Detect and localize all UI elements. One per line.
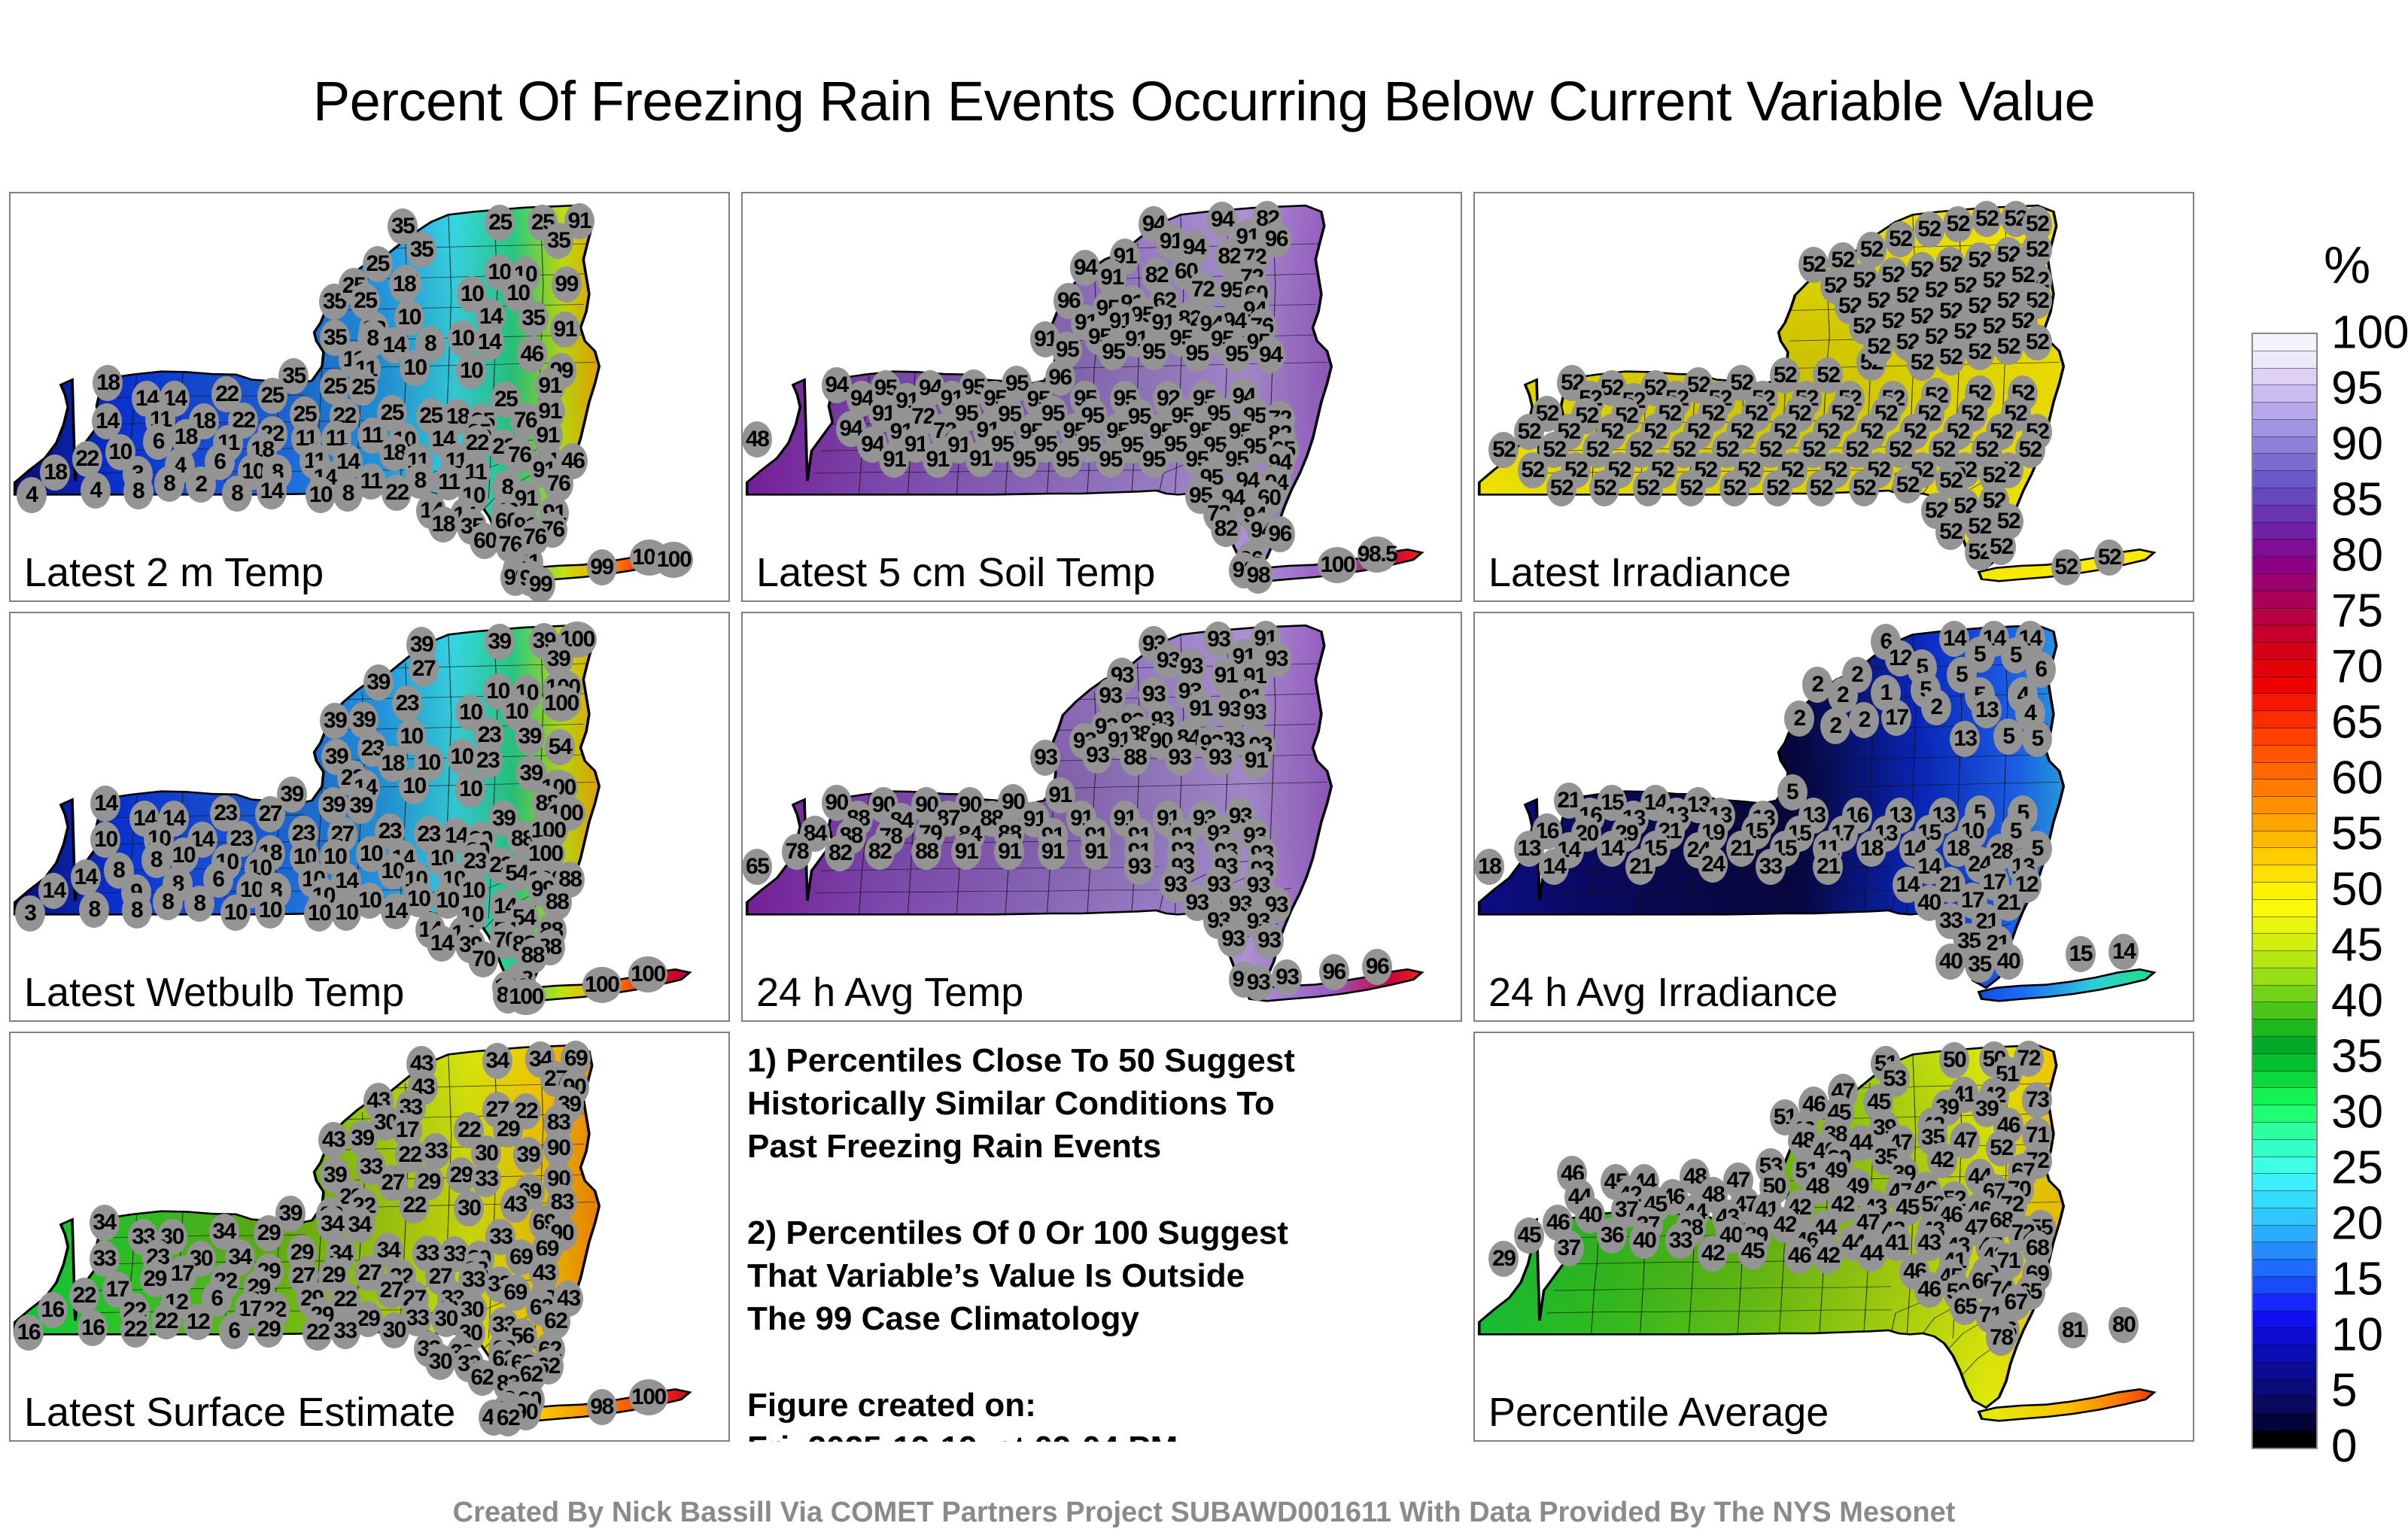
station-marker: 21 — [1813, 849, 1843, 885]
station-marker: 8 — [153, 884, 183, 920]
colorbar-tick-label: 0 — [2331, 1420, 2357, 1473]
panel-label: Latest 2 m Temp — [24, 549, 324, 596]
notes-text: 1) Percentiles Close To 50 Suggest Histo… — [747, 1039, 1456, 1442]
station-marker: 39 — [320, 703, 350, 739]
colorbar-band — [2253, 1123, 2316, 1140]
colorbar-band — [2253, 1260, 2316, 1277]
colorbar-band — [2253, 814, 2316, 831]
colorbar-tick-label: 85 — [2331, 473, 2383, 527]
station-marker: 35 — [518, 300, 549, 336]
colorbar-band — [2253, 848, 2316, 865]
colorbar-tick-label: 70 — [2331, 640, 2383, 694]
colorbar-tick-label: 75 — [2331, 585, 2383, 638]
station-marker: 10 — [220, 895, 251, 931]
station-marker: 95 — [1139, 442, 1169, 478]
station-marker: 22 — [382, 475, 412, 511]
colorbar-band — [2253, 1054, 2316, 1071]
station-marker: 100 — [654, 542, 693, 578]
station-marker: 30 — [454, 1190, 484, 1226]
station-marker: 100 — [628, 956, 667, 992]
station-marker: 5 — [2022, 721, 2052, 757]
colorbar-band — [2253, 643, 2316, 660]
station-marker: 17 — [1881, 700, 1911, 736]
station-marker: 2 — [1784, 701, 1814, 737]
station-marker: 35 — [1965, 947, 1995, 983]
station-marker: 46 — [1914, 1272, 1944, 1308]
station-marker: 25 — [485, 205, 515, 241]
station-marker: 52 — [1589, 470, 1619, 506]
station-marker: 22 — [399, 1187, 429, 1223]
colorbar-band — [2253, 917, 2316, 935]
station-marker: 10 — [455, 771, 485, 807]
station-marker: 100 — [629, 1379, 668, 1415]
panel-label: Percentile Average — [1488, 1389, 1829, 1436]
figure-root: Percent Of Freezing Rain Events Occurrin… — [0, 0, 2408, 1535]
colorbar-band — [2253, 1088, 2316, 1105]
panel-label: 24 h Avg Irradiance — [1488, 969, 1838, 1016]
colorbar-tick-label: 10 — [2331, 1309, 2383, 1362]
colorbar-band — [2253, 1037, 2316, 1054]
station-marker: 30 — [425, 1344, 455, 1380]
station-marker: 98.5 — [1358, 536, 1397, 573]
station-marker: 95 — [1096, 442, 1126, 478]
station-marker: 35 — [543, 223, 573, 259]
station-marker: 52 — [1914, 211, 1944, 248]
station-marker: 91 — [550, 312, 580, 348]
station-marker: 91 — [1081, 834, 1111, 870]
station-marker: 93 — [1082, 737, 1112, 774]
colorbar-tick-label: 15 — [2331, 1253, 2383, 1306]
station-marker: 14 — [257, 473, 287, 509]
station-marker: 46 — [1784, 1238, 1814, 1274]
station-marker: 82 — [825, 835, 855, 871]
station-marker: 78 — [1986, 1320, 2016, 1356]
footer-credit: Created By Nick Bassill Via COMET Partne… — [0, 1497, 2408, 1529]
station-marker: 10 — [255, 892, 285, 929]
station-marker: 14 — [71, 859, 101, 895]
station-marker: 34 — [482, 1043, 512, 1079]
station-marker: 13 — [1950, 721, 1980, 757]
colorbar-band — [2253, 728, 2316, 746]
colorbar-band — [2253, 1157, 2316, 1175]
colorbar-tick-label: 95 — [2331, 362, 2383, 415]
colorbar-band — [2253, 454, 2316, 471]
station-marker: 52 — [1806, 470, 1836, 506]
colorbar-band — [2253, 609, 2316, 626]
station-marker: 14 — [2109, 934, 2139, 970]
station-marker: 10 — [304, 895, 334, 932]
station-marker: 34 — [90, 1205, 120, 1241]
station-marker: 27 — [409, 651, 439, 687]
colorbar-band — [2253, 694, 2316, 711]
station-marker: 21 — [1726, 831, 1756, 867]
station-marker: 25 — [257, 378, 287, 414]
station-marker: 45 — [1514, 1217, 1544, 1254]
station-marker: 100 — [506, 979, 546, 1015]
colorbar-band — [2253, 1345, 2316, 1363]
station-marker: 40 — [1629, 1223, 1659, 1259]
station-marker: 2 — [1820, 708, 1850, 744]
station-marker: 43 — [318, 1122, 348, 1158]
colorbar-band — [2253, 900, 2316, 917]
station-marker: 54 — [545, 729, 575, 765]
station-marker: 70 — [468, 941, 498, 977]
colorbar-band — [2253, 763, 2316, 780]
station-marker: 88 — [1120, 740, 1150, 776]
station-marker: 33 — [330, 1313, 360, 1349]
station-marker: 8 — [222, 476, 252, 512]
station-marker: 73 — [2022, 1082, 2052, 1118]
station-marker: 52 — [1885, 221, 1915, 257]
station-marker: 5 — [1993, 719, 2023, 755]
colorbar-band — [2253, 506, 2316, 523]
station-marker: 10 — [306, 477, 336, 513]
colorbar-band — [2253, 711, 2316, 728]
station-marker: 82 — [1211, 511, 1241, 547]
station-marker: 33 — [1756, 849, 1786, 885]
station-marker: 27 — [255, 796, 285, 832]
station-marker: 14 — [381, 893, 411, 929]
station-marker: 21 — [1625, 849, 1655, 885]
station-marker: 22 — [120, 1312, 150, 1348]
station-marker: 91 — [879, 442, 909, 478]
colorbar-band — [2253, 865, 2316, 883]
station-marker: 39 — [513, 1137, 543, 1173]
colorbar-tick-label: 50 — [2331, 863, 2383, 916]
station-marker: 95 — [1182, 336, 1212, 372]
station-marker: 95 — [1009, 442, 1039, 478]
station-marker: 37 — [1554, 1230, 1584, 1266]
panel-label: 24 h Avg Temp — [756, 969, 1023, 1016]
station-marker: 14 — [1597, 831, 1627, 867]
station-marker: 18 — [40, 454, 70, 491]
station-marker: 39 — [485, 624, 515, 660]
colorbar-band — [2253, 1397, 2316, 1414]
station-marker: 93 — [1254, 923, 1284, 959]
panel-notes[interactable]: 1) Percentiles Close To 50 Suggest Histo… — [741, 1032, 1462, 1442]
station-marker: 23 — [392, 685, 422, 722]
station-marker: 100 — [1318, 547, 1357, 583]
colorbar-band — [2253, 1174, 2316, 1191]
panel-percentile-average[interactable]: 5150507253514741427346453939514539424671… — [1473, 1032, 2194, 1442]
colorbar-band — [2253, 1380, 2316, 1397]
station-marker: 98 — [587, 1389, 617, 1425]
colorbar-band — [2253, 385, 2316, 403]
colorbar-band — [2253, 883, 2316, 900]
colorbar-band — [2253, 1294, 2316, 1312]
station-marker: 48 — [742, 421, 772, 457]
station-marker: 39 — [346, 788, 376, 824]
station-marker: 30 — [379, 1312, 409, 1348]
station-marker: 52 — [1863, 329, 1893, 365]
station-marker: 99 — [587, 549, 617, 585]
colorbar-band — [2253, 1431, 2316, 1448]
station-marker: 43 — [500, 1187, 531, 1223]
station-marker: 52 — [1546, 470, 1576, 506]
station-marker: 10 — [331, 895, 361, 931]
station-marker: 52 — [1849, 470, 1879, 506]
colorbar-band — [2253, 934, 2316, 951]
colorbar-band — [2253, 831, 2316, 849]
colorbar-band — [2253, 1002, 2316, 1020]
station-marker: 52 — [1488, 432, 1519, 468]
colorbar-band — [2253, 746, 2316, 763]
station-marker: 2 — [1921, 689, 1951, 725]
colorbar-band — [2253, 660, 2316, 677]
colorbar-band — [2253, 1140, 2316, 1157]
station-marker: 93 — [1124, 849, 1154, 885]
colorbar-band — [2253, 1242, 2316, 1260]
station-marker: 16 — [78, 1310, 108, 1346]
station-marker: 34 — [345, 1207, 375, 1243]
station-marker: 52 — [1965, 334, 1995, 370]
station-marker: 96 — [1362, 949, 1392, 985]
station-marker: 100 — [582, 967, 622, 1003]
colorbar-band — [2253, 420, 2316, 437]
station-marker: 91 — [1241, 743, 1271, 779]
station-marker: 6 — [219, 1313, 249, 1349]
station-marker: 91 — [965, 441, 996, 477]
colorbar-band — [2253, 780, 2316, 797]
panel-latest-wetbulb-temp[interactable]: 3939391002739391010100393923101010010233… — [9, 612, 730, 1022]
station-marker: 93 — [1205, 740, 1235, 776]
colorbar-band — [2253, 968, 2316, 986]
station-marker: 39 — [363, 664, 394, 701]
station-marker: 15 — [2066, 936, 2096, 972]
station-marker: 80 — [2109, 1307, 2139, 1343]
station-marker: 52 — [1907, 345, 1937, 381]
panel-label: Latest 5 cm Soil Temp — [756, 549, 1155, 596]
colorbar-band — [2253, 1208, 2316, 1226]
station-marker: 29 — [254, 1215, 284, 1251]
station-marker: 10 — [456, 353, 486, 389]
station-marker: 22 — [69, 1278, 99, 1314]
station-marker: 8 — [154, 466, 184, 502]
panel-latest-2m-temp[interactable]: 3525259135352525101035251810109925101435… — [9, 192, 730, 602]
station-marker: 18 — [1474, 849, 1504, 885]
panel-24h-avg-temp[interactable]: 9393919391939393919193939391939391939393… — [741, 612, 1462, 1022]
station-marker: 52 — [1972, 201, 2002, 237]
colorbar-band — [2253, 677, 2316, 695]
station-marker: 14 — [1539, 849, 1569, 885]
colorbar-band — [2253, 540, 2316, 557]
station-marker: 62 — [493, 1400, 523, 1436]
station-marker: 78 — [782, 834, 812, 870]
colorbar-band — [2253, 1328, 2316, 1345]
panel-latest-irradiance[interactable]: 5252525252525252525252525252525252525252… — [1473, 192, 2194, 602]
station-marker: 95 — [1139, 334, 1169, 370]
colorbar-band — [2253, 1312, 2316, 1329]
colorbar-tick-label: 100 — [2331, 306, 2408, 360]
station-marker: 91 — [923, 442, 953, 478]
station-marker: 8 — [122, 892, 152, 929]
colorbar-tick-label: 60 — [2331, 752, 2383, 805]
colorbar-band — [2253, 351, 2316, 369]
station-marker: 94 — [1255, 337, 1285, 373]
colorbar-band — [2253, 557, 2316, 574]
station-marker: 93 — [1243, 965, 1273, 1001]
colorbar-tick-label: 30 — [2331, 1086, 2383, 1139]
station-marker: 10 — [399, 768, 429, 804]
colorbar-band — [2253, 334, 2316, 351]
station-marker: 14 — [427, 926, 457, 962]
station-marker: 50 — [1939, 1042, 1969, 1078]
page-title: Percent Of Freezing Rain Events Occurrin… — [0, 69, 2408, 133]
colorbar-band — [2253, 591, 2316, 609]
colorbar-band — [2253, 574, 2316, 591]
station-marker: 44 — [1856, 1236, 1887, 1272]
station-marker: 16 — [14, 1315, 44, 1351]
station-marker: 95 — [1052, 442, 1082, 478]
station-marker: 22 — [72, 441, 102, 477]
station-marker: 93 — [1218, 921, 1248, 957]
colorbar-band — [2253, 1105, 2316, 1123]
station-marker: 8 — [333, 476, 363, 512]
station-marker: 52 — [1893, 467, 1923, 503]
station-marker: 24 — [1698, 847, 1728, 883]
station-marker: 52 — [1676, 470, 1706, 506]
panel-latest-surface-estimate[interactable]: 4334346943279043332722394339301722298322… — [9, 1032, 730, 1442]
station-marker: 4 — [17, 477, 47, 513]
station-marker: 29 — [1488, 1241, 1519, 1277]
colorbar-unit-label: % — [2324, 235, 2370, 295]
colorbar-track — [2251, 333, 2318, 1449]
station-marker: 22 — [151, 1303, 181, 1339]
station-marker: 95 — [1221, 336, 1251, 372]
colorbar-tick-label: 90 — [2331, 418, 2383, 471]
station-marker: 36 — [1597, 1217, 1627, 1254]
station-marker: 39 — [515, 719, 545, 755]
station-marker: 91 — [1038, 834, 1068, 870]
station-marker: 98 — [1243, 558, 1273, 594]
colorbar-band — [2253, 488, 2316, 506]
station-marker: 10 — [448, 321, 478, 357]
colorbar-band — [2253, 437, 2316, 454]
station-marker: 95 — [1098, 334, 1128, 370]
station-marker: 3 — [15, 895, 45, 932]
station-marker: 18 — [389, 266, 419, 302]
colorbar-tick-label: 20 — [2331, 1197, 2383, 1251]
station-marker: 16 — [38, 1292, 68, 1328]
station-marker: 22 — [303, 1315, 333, 1351]
panel-latest-5cm-soil-temp[interactable]: 9494829191969194827294826072917295609691… — [741, 192, 1462, 602]
station-marker: 52 — [2022, 324, 2052, 360]
colorbar-band — [2253, 625, 2316, 643]
station-marker: 2 — [1849, 702, 1879, 738]
colorbar-tick-label: 40 — [2331, 974, 2383, 1028]
station-marker: 99 — [525, 567, 555, 602]
station-marker: 52 — [1518, 452, 1548, 488]
station-marker: 52 — [1935, 339, 1966, 375]
station-marker: 40 — [1993, 944, 2023, 980]
colorbar-band — [2253, 951, 2316, 968]
colorbar-band — [2253, 986, 2316, 1003]
colorbar-tick-label: 25 — [2331, 1141, 2383, 1195]
station-marker: 14 — [90, 786, 120, 822]
station-marker: 96 — [1265, 516, 1295, 552]
colorbar-tick-label: 65 — [2331, 696, 2383, 749]
station-marker: 93 — [1165, 740, 1195, 776]
station-marker: 42 — [1698, 1236, 1728, 1272]
station-marker: 52 — [1762, 470, 1792, 506]
station-marker: 33 — [1665, 1223, 1695, 1259]
station-marker: 52 — [1935, 514, 1966, 550]
colorbar-band — [2253, 471, 2316, 488]
station-marker: 8 — [123, 473, 154, 509]
panel-label: Latest Irradiance — [1488, 549, 1791, 596]
colorbar-tick-label: 55 — [2331, 807, 2383, 861]
colorbar-tick-label: 5 — [2331, 1364, 2357, 1418]
station-marker: 81 — [2058, 1312, 2088, 1348]
station-marker: 42 — [1813, 1238, 1843, 1274]
station-marker: 10 — [400, 350, 430, 386]
station-marker: 96 — [1319, 954, 1349, 990]
station-marker: 62 — [467, 1360, 497, 1396]
colorbar-tick-label: 35 — [2331, 1030, 2383, 1084]
station-marker: 93 — [1239, 695, 1269, 731]
station-marker: 46 — [517, 336, 547, 372]
station-marker: 12 — [183, 1304, 213, 1340]
panel-label: Latest Surface Estimate — [24, 1389, 455, 1436]
station-marker: 99 — [552, 266, 582, 302]
station-marker: 93 — [1030, 740, 1060, 776]
station-marker: 52 — [1633, 470, 1663, 506]
station-marker: 52 — [2051, 549, 2081, 585]
station-marker: 52 — [1993, 329, 2023, 365]
station-marker: 94 — [1070, 250, 1100, 286]
station-marker: 4 — [81, 473, 111, 509]
panel-24h-avg-irradiance[interactable]: 6141414125525562155422172134221355211514… — [1473, 612, 2194, 1022]
colorbar-band — [2253, 369, 2316, 386]
station-marker: 52 — [1719, 470, 1750, 506]
station-marker: 8 — [79, 892, 109, 928]
station-marker: 100 — [542, 685, 581, 722]
station-marker: 18 — [428, 506, 458, 543]
station-marker: 29 — [254, 1312, 284, 1348]
station-marker: 82 — [865, 834, 895, 870]
station-marker: 40 — [1935, 944, 1966, 980]
station-marker: 93 — [1272, 959, 1302, 995]
colorbar-tick-label: 80 — [2331, 529, 2383, 582]
colorbar-band — [2253, 1414, 2316, 1431]
station-marker: 91 — [994, 834, 1024, 870]
station-marker: 18 — [93, 365, 123, 401]
colorbar-band — [2253, 523, 2316, 540]
colorbar-band — [2253, 1071, 2316, 1089]
colorbar-tick-label: 45 — [2331, 919, 2383, 972]
station-marker: 45 — [1738, 1233, 1768, 1269]
station-marker: 52 — [1943, 206, 1973, 242]
colorbar-band — [2253, 1226, 2316, 1243]
colorbar-band — [2253, 1191, 2316, 1208]
colorbar-band — [2253, 1020, 2316, 1037]
station-marker: 8 — [184, 886, 214, 922]
station-marker: 14 — [38, 873, 68, 909]
station-marker: 25 — [348, 369, 378, 406]
station-marker: 52 — [2094, 540, 2124, 576]
station-marker: 65 — [742, 849, 772, 885]
station-marker: 18 — [1856, 831, 1887, 867]
colorbar-band — [2253, 1277, 2316, 1294]
colorbar-band — [2253, 403, 2316, 420]
colorbar-band — [2253, 1363, 2316, 1380]
panel-label: Latest Wetbulb Temp — [24, 969, 404, 1016]
station-marker: 35 — [406, 232, 436, 268]
station-marker: 91 — [951, 834, 981, 870]
colorbar-band — [2253, 797, 2316, 814]
station-marker: 2 — [186, 467, 216, 503]
station-marker: 88 — [911, 834, 941, 870]
